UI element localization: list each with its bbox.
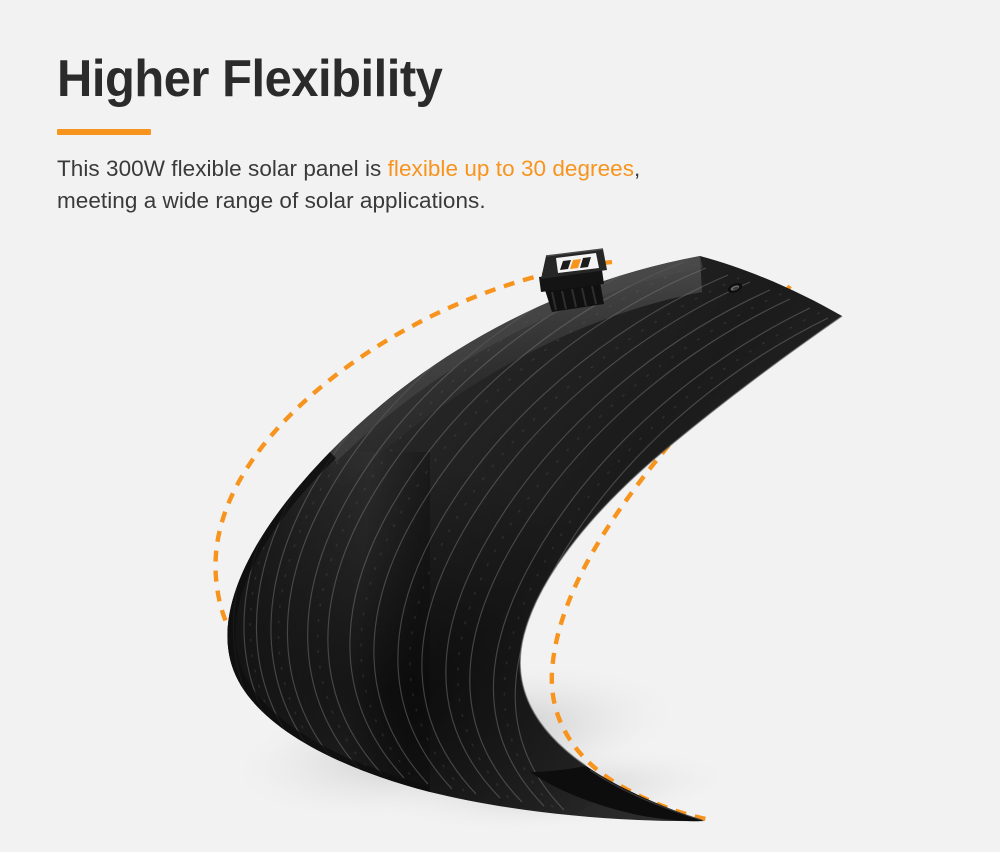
panel-trailing-edge (520, 316, 842, 766)
solar-cell-dot-texture (204, 257, 819, 808)
panel-left-edge (227, 452, 430, 792)
page-title: Higher Flexibility (57, 48, 790, 110)
promo-banner: Higher Flexibility This 300W flexible so… (0, 0, 1000, 852)
junction-box-legs (545, 282, 604, 312)
panel-face (227, 256, 842, 821)
mounting-grommet-icon (726, 281, 743, 294)
flex-envelope-dashed-left (215, 262, 612, 692)
panel-top-edge-bevel (330, 256, 703, 462)
body-copy-highlight: flexible up to 30 degrees (388, 156, 634, 181)
brand-logo-icon (560, 257, 591, 270)
solar-panel-body (170, 256, 862, 850)
junction-box (539, 249, 607, 312)
body-copy-suffix: , (634, 156, 640, 181)
copy-block: Higher Flexibility This 300W flexible so… (57, 48, 837, 240)
body-copy: This 300W flexible solar panel is flexib… (57, 153, 837, 217)
panel-ground-shadow (212, 634, 743, 850)
junction-box-side (539, 270, 604, 292)
solar-cell-busbar-lines (202, 256, 828, 810)
junction-box-top (541, 249, 607, 279)
panel-top-sheen (330, 256, 702, 500)
panel-bottom-edge-rim (590, 770, 702, 820)
panel-left-curl-shade (227, 452, 430, 792)
body-copy-line-2: meeting a wide range of solar applicatio… (57, 185, 837, 217)
body-copy-prefix: This 300W flexible solar panel is (57, 156, 388, 181)
panel-right-edge-light (520, 312, 862, 821)
panel-trough-shade (170, 430, 690, 850)
panel-bottom-edge (530, 766, 704, 821)
flex-envelope-dashed-right (552, 286, 790, 819)
title-accent-rule (57, 129, 151, 135)
body-copy-line-1: This 300W flexible solar panel is flexib… (57, 153, 837, 185)
junction-box-label (556, 253, 599, 273)
